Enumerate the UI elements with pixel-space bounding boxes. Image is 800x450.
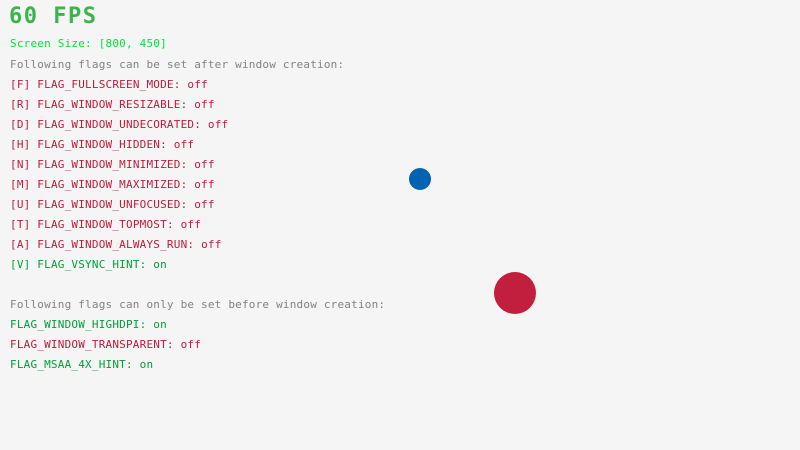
flag-name: FLAG_WINDOW_TRANSPARENT [10,338,167,351]
flag-row-flag-window-always-run[interactable]: [A] FLAG_WINDOW_ALWAYS_RUN: off [10,238,222,251]
flag-key: [R] [10,98,37,111]
flag-key: [U] [10,198,37,211]
flag-value: off [194,158,214,171]
flag-separator: : [187,238,201,251]
flag-row-flag-window-topmost[interactable]: [T] FLAG_WINDOW_TOPMOST: off [10,218,201,231]
flag-value: on [140,358,154,371]
flag-value: off [194,178,214,191]
fps-counter: 60 FPS [9,4,97,30]
flag-value: off [181,218,201,231]
flag-name: FLAG_WINDOW_UNFOCUSED [37,198,180,211]
flag-key: [N] [10,158,37,171]
flag-value: on [153,318,167,331]
flag-separator: : [167,338,181,351]
flag-key: [H] [10,138,37,151]
flag-key: [A] [10,238,37,251]
flag-row-flag-window-minimized[interactable]: [N] FLAG_WINDOW_MINIMIZED: off [10,158,215,171]
flag-value: off [194,198,214,211]
flag-name: FLAG_MSAA_4X_HINT [10,358,126,371]
flag-name: FLAG_WINDOW_HIDDEN [37,138,160,151]
flag-row-flag-window-unfocused[interactable]: [U] FLAG_WINDOW_UNFOCUSED: off [10,198,215,211]
flag-row-flag-vsync-hint[interactable]: [V] FLAG_VSYNC_HINT: on [10,258,167,271]
flag-name: FLAG_WINDOW_TOPMOST [37,218,167,231]
flag-separator: : [160,138,174,151]
section-heading-after-creation: Following flags can be set after window … [10,58,344,71]
flag-name: FLAG_WINDOW_UNDECORATED [37,118,194,131]
flag-separator: : [181,198,195,211]
flag-key: [V] [10,258,37,271]
flag-key: [F] [10,78,37,91]
flag-name: FLAG_VSYNC_HINT [37,258,139,271]
flag-row-flag-window-highdpi: FLAG_WINDOW_HIGHDPI: on [10,318,167,331]
red-ball [494,272,536,314]
flag-separator: : [181,158,195,171]
flag-separator: : [181,178,195,191]
flag-value: off [181,338,201,351]
flag-name: FLAG_WINDOW_ALWAYS_RUN [37,238,187,251]
flag-row-flag-window-transparent: FLAG_WINDOW_TRANSPARENT: off [10,338,201,351]
app-canvas: 60 FPS Screen Size: [800, 450] Following… [0,0,800,450]
flag-value: off [208,118,228,131]
flag-name: FLAG_WINDOW_RESIZABLE [37,98,180,111]
flag-name: FLAG_WINDOW_MAXIMIZED [37,178,180,191]
flag-row-flag-window-undecorated[interactable]: [D] FLAG_WINDOW_UNDECORATED: off [10,118,228,131]
flag-name: FLAG_FULLSCREEN_MODE [37,78,173,91]
flag-separator: : [174,78,188,91]
flag-key: [T] [10,218,37,231]
flag-name: FLAG_WINDOW_HIGHDPI [10,318,140,331]
flag-separator: : [167,218,181,231]
flag-value: on [153,258,167,271]
flag-row-flag-msaa-4x-hint: FLAG_MSAA_4X_HINT: on [10,358,153,371]
flag-separator: : [126,358,140,371]
flag-separator: : [140,318,154,331]
flag-key: [D] [10,118,37,131]
section-heading-before-creation: Following flags can only be set before w… [10,298,385,311]
flag-value: off [201,238,221,251]
flag-separator: : [181,98,195,111]
flag-row-flag-window-maximized[interactable]: [M] FLAG_WINDOW_MAXIMIZED: off [10,178,215,191]
flag-separator: : [140,258,154,271]
flag-row-flag-fullscreen-mode[interactable]: [F] FLAG_FULLSCREEN_MODE: off [10,78,208,91]
flag-value: off [174,138,194,151]
flag-value: off [187,78,207,91]
flag-row-flag-window-hidden[interactable]: [H] FLAG_WINDOW_HIDDEN: off [10,138,194,151]
flag-name: FLAG_WINDOW_MINIMIZED [37,158,180,171]
flag-key: [M] [10,178,37,191]
flag-row-flag-window-resizable[interactable]: [R] FLAG_WINDOW_RESIZABLE: off [10,98,215,111]
flag-value: off [194,98,214,111]
screen-size-label: Screen Size: [800, 450] [10,37,167,50]
blue-ball [409,168,431,190]
flag-separator: : [194,118,208,131]
